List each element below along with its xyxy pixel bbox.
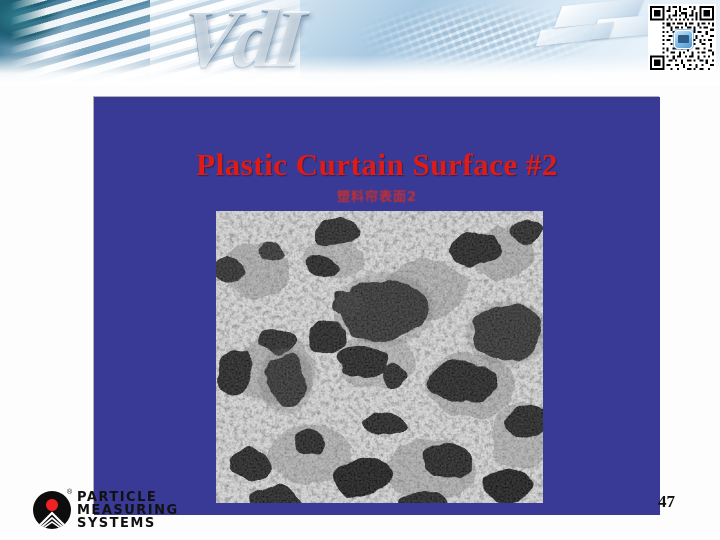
slide-title: Plastic Curtain Surface #2 [94,147,660,183]
micrograph-graphic [216,211,543,503]
logo-line-2: MEASURING [77,504,179,517]
logo-line-1: PARTICLE [77,491,179,504]
header-banner: VdI [0,0,720,85]
logo-mark-icon [33,491,71,529]
registered-mark: ® [67,489,72,496]
page-number: 47 [658,492,675,512]
logo-wordmark: PARTICLE MEASURING SYSTEMS [77,491,179,530]
banner-fade [0,55,720,85]
slide-subtitle-chinese: 塑料帘表面2 [94,186,660,205]
app-badge-icon [674,30,693,49]
qr-code[interactable] [648,4,716,72]
company-logo: ® PARTICLE MEASURING SYSTEMS [33,488,179,532]
presentation-page: VdI [0,0,720,540]
micrograph-image [216,211,543,503]
slide: Plastic Curtain Surface #2 塑料帘表面2 [94,97,660,515]
logo-waves-icon [33,509,71,529]
logo-line-3: SYSTEMS [77,517,179,530]
